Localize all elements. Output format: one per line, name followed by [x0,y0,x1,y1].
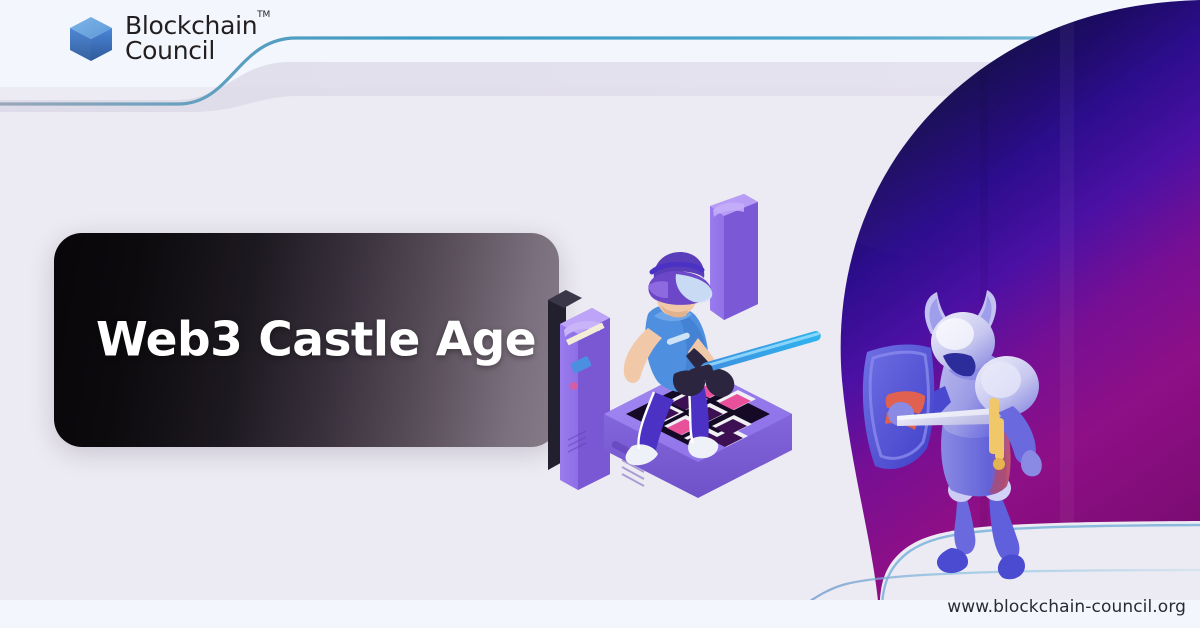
knight-shield [863,345,934,470]
brand-logo[interactable]: Blockchain TM Council [68,14,257,63]
banner-canvas: Blockchain TM Council Web3 Castle Age [0,0,1200,628]
brand-name: Blockchain TM Council [125,14,257,63]
vr-gamer-illustration [548,188,828,498]
page-title: Web3 Castle Age [96,313,536,368]
title-card: Web3 Castle Age [54,233,559,447]
vr-tower-device [560,308,610,490]
website-url[interactable]: www.blockchain-council.org [947,597,1186,617]
horned-knight-illustration [845,290,1075,580]
trademark-symbol: TM [257,11,270,20]
brand-name-line1: Blockchain [125,11,257,40]
vr-back-pillar [710,194,758,320]
brand-name-line2: Council [125,39,257,64]
blockchain-cube-icon [68,15,114,63]
